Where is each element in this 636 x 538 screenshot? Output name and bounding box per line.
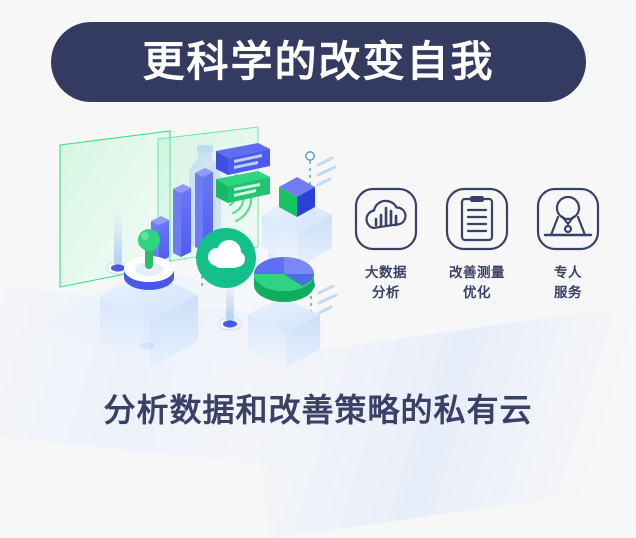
feature-label-line2: 优化 [449, 284, 505, 304]
promo-banner: 更科学的改变自我 [0, 0, 636, 450]
cloud-bar-chart-icon [353, 186, 419, 252]
feature-label-line1: 大数据 [365, 265, 407, 281]
cube-pedestal [262, 177, 332, 267]
clipboard-icon [444, 186, 510, 252]
headline-text: 更科学的改变自我 [142, 41, 494, 83]
feature-item-big-data[interactable]: 大数据 分析 [348, 186, 424, 303]
feature-label-line1: 改善测量 [449, 265, 505, 281]
feature-item-service[interactable]: 专人 服务 [530, 186, 606, 303]
tagline-text: 分析数据和改善策略的私有云 [0, 385, 636, 431]
feature-list: 大数据 分析 改善测量 [348, 186, 606, 303]
service-person-icon [535, 186, 601, 252]
feature-label-service: 专人 服务 [554, 264, 582, 303]
pie-chart-3d [254, 257, 314, 302]
feature-item-measurement[interactable]: 改善测量 优化 [439, 186, 515, 303]
feature-label-big-data: 大数据 分析 [365, 264, 407, 303]
feature-label-line2: 服务 [554, 284, 582, 304]
isometric-illustration [30, 125, 350, 370]
feature-label-line1: 专人 [554, 265, 582, 281]
green-cloud-badge [196, 228, 256, 288]
feature-label-line2: 分析 [365, 284, 407, 304]
feature-label-measurement: 改善测量 优化 [449, 264, 505, 303]
pie-chart-pedestal [248, 257, 320, 368]
headline-pill: 更科学的改变自我 [51, 22, 586, 102]
